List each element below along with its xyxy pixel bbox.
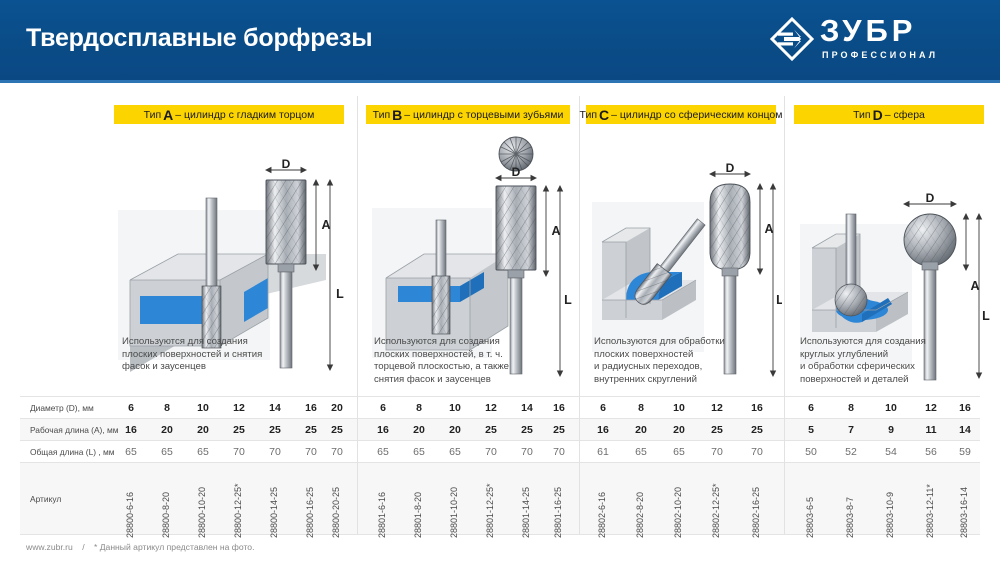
footer-website[interactable]: www.zubr.ru (26, 542, 73, 552)
banner-suffix-a: – цилиндр с гладким торцом (175, 109, 314, 121)
table-column-divider (784, 396, 785, 534)
cell-total-length: 50 (794, 446, 828, 458)
cell-total-length: 54 (874, 446, 908, 458)
cell-article: 28802-16-25 (751, 487, 761, 538)
cell-article: 28803-16-14 (959, 487, 969, 538)
table-column-divider (357, 396, 358, 534)
cell-article: 28801-6-16 (377, 492, 387, 538)
cell-working-length: 5 (794, 424, 828, 436)
row-label-total-length: Общая длина (L) , мм (30, 447, 115, 457)
page-footer: www.zubr.ru / * Данный артикул представл… (26, 542, 254, 552)
cell-article: 28800-14-25 (269, 487, 279, 538)
cell-working-length: 25 (474, 424, 508, 436)
table-rule (20, 418, 980, 419)
dim-label-a-a: A (321, 218, 330, 232)
cell-working-length: 20 (624, 424, 658, 436)
cell-working-length: 9 (874, 424, 908, 436)
banner-prefix-a: Тип (144, 109, 162, 121)
cell-diameter: 8 (624, 402, 658, 414)
cell-article: 28800-10-20 (197, 487, 207, 538)
dimension-a-d (964, 214, 969, 270)
cell-working-length: 25 (222, 424, 256, 436)
cell-diameter: 20 (320, 402, 354, 414)
cell-article: 28801-10-20 (449, 487, 459, 538)
cell-total-length: 65 (366, 446, 400, 458)
brand-logo: ЗУБР ПРОФЕССИОНАЛ (770, 13, 982, 67)
cell-total-length: 52 (834, 446, 868, 458)
banner-prefix-c: Тип (580, 109, 598, 121)
cell-article: 28801-8-20 (413, 492, 423, 538)
banner-letter-d: D (873, 108, 883, 122)
cell-diameter: 14 (258, 402, 292, 414)
cell-diameter: 8 (402, 402, 436, 414)
cell-total-length: 65 (186, 446, 220, 458)
cell-total-length: 70 (740, 446, 774, 458)
cell-diameter: 16 (740, 402, 774, 414)
row-label-article: Артикул (30, 494, 61, 504)
cell-total-length: 70 (222, 446, 256, 458)
cell-total-length: 70 (258, 446, 292, 458)
cell-working-length: 16 (114, 424, 148, 436)
dim-label-l-a: L (336, 287, 344, 301)
type-banner-b: Тип B – цилиндр с торцевыми зубьями (366, 105, 570, 124)
cell-total-length: 70 (542, 446, 576, 458)
cell-article: 28802-6-16 (597, 492, 607, 538)
cell-diameter: 6 (366, 402, 400, 414)
banner-prefix-b: Тип (373, 109, 391, 121)
banner-suffix-d: – сфера (885, 109, 925, 121)
dim-label-d-b: D (512, 165, 521, 179)
cell-article: 28801-14-25 (521, 487, 531, 538)
dim-label-l-b: L (564, 293, 572, 307)
type-banner-a: Тип A – цилиндр с гладким торцом (114, 105, 344, 124)
header-rule (0, 80, 1000, 83)
cell-article: 28802-10-20 (673, 487, 683, 538)
dim-label-d-a: D (282, 158, 291, 171)
cell-article: 28802-12-25* (711, 483, 721, 538)
cell-diameter: 16 (948, 402, 982, 414)
cell-diameter: 10 (438, 402, 472, 414)
cell-article: 28801-12-25* (485, 483, 495, 538)
cell-working-length: 14 (948, 424, 982, 436)
description-type-a: Используются для созданияплоских поверхн… (122, 336, 337, 374)
cell-total-length: 65 (662, 446, 696, 458)
cell-total-length: 59 (948, 446, 982, 458)
footer-note: * Данный артикул представлен на фото. (94, 542, 255, 552)
cell-diameter: 14 (510, 402, 544, 414)
cell-article: 28803-6-5 (805, 497, 815, 538)
cell-article: 28803-8-7 (845, 497, 855, 538)
cell-total-length: 70 (700, 446, 734, 458)
cell-working-length: 20 (150, 424, 184, 436)
banner-letter-a: A (163, 108, 173, 122)
table-rule (20, 462, 980, 463)
cell-diameter: 16 (542, 402, 576, 414)
cell-article: 28803-12-11* (925, 484, 935, 538)
dim-label-a-d: A (970, 279, 979, 293)
cell-total-length: 70 (320, 446, 354, 458)
cell-diameter: 6 (794, 402, 828, 414)
banner-prefix-d: Тип (853, 109, 871, 121)
banner-letter-c: C (599, 108, 609, 122)
row-label-working-length: Рабочая длина (A), мм (30, 425, 119, 435)
cell-total-length: 65 (150, 446, 184, 458)
dim-label-d-c: D (726, 161, 735, 175)
cell-article: 28803-10-9 (885, 492, 895, 538)
cell-working-length: 25 (510, 424, 544, 436)
cell-article: 28800-20-25 (331, 487, 341, 538)
cell-diameter: 12 (700, 402, 734, 414)
cell-working-length: 25 (258, 424, 292, 436)
cell-total-length: 65 (624, 446, 658, 458)
cell-working-length: 16 (586, 424, 620, 436)
zubr-diamond-arrow-icon (770, 17, 814, 61)
description-type-d: Используются для созданиякруглых углубле… (800, 336, 990, 386)
logo-subtitle: ПРОФЕССИОНАЛ (822, 50, 938, 60)
cell-working-length: 20 (186, 424, 220, 436)
cell-diameter: 12 (474, 402, 508, 414)
description-type-c: Используются для обработкиплоских поверх… (594, 336, 779, 386)
cell-article: 28800-16-25 (305, 487, 315, 538)
cell-total-length: 65 (402, 446, 436, 458)
cell-working-length: 25 (740, 424, 774, 436)
cell-total-length: 65 (114, 446, 148, 458)
footer-separator: / (82, 542, 84, 552)
cell-diameter: 6 (114, 402, 148, 414)
table-rule (20, 396, 980, 397)
dim-label-d-d: D (926, 192, 935, 205)
cell-article: 28800-6-16 (125, 492, 135, 538)
type-banner-d: Тип D – сфера (794, 105, 984, 124)
cell-working-length: 25 (320, 424, 354, 436)
cell-diameter: 8 (834, 402, 868, 414)
page-title: Твердосплавные борфрезы (26, 24, 372, 53)
cell-total-length: 61 (586, 446, 620, 458)
table-column-divider (579, 396, 580, 534)
cell-total-length: 65 (438, 446, 472, 458)
cell-total-length: 70 (474, 446, 508, 458)
cell-working-length: 20 (402, 424, 436, 436)
cell-article: 28800-12-25* (233, 483, 243, 538)
cell-diameter: 12 (914, 402, 948, 414)
banner-suffix-b: – цилиндр с торцевыми зубьями (404, 109, 563, 121)
column-divider (357, 96, 358, 396)
cell-working-length: 7 (834, 424, 868, 436)
description-type-b: Используются для созданияплоских поверхн… (374, 336, 574, 386)
cell-article: 28801-16-25 (553, 487, 563, 538)
cell-article: 28802-8-20 (635, 492, 645, 538)
datasheet-page: Твердосплавные борфрезы ЗУБР ПРОФЕССИОНА… (0, 0, 1000, 563)
banner-letter-b: B (392, 108, 402, 122)
cell-working-length: 11 (914, 424, 948, 436)
dim-label-l-d: L (982, 309, 990, 323)
cell-diameter: 10 (874, 402, 908, 414)
cell-article: 28800-8-20 (161, 492, 171, 538)
cell-total-length: 56 (914, 446, 948, 458)
cell-working-length: 16 (366, 424, 400, 436)
cell-diameter: 12 (222, 402, 256, 414)
cell-working-length: 20 (438, 424, 472, 436)
cell-working-length: 20 (662, 424, 696, 436)
cell-diameter: 8 (150, 402, 184, 414)
table-rule (20, 440, 980, 441)
banner-suffix-c: – цилиндр со сферическим концом (611, 109, 782, 121)
cell-working-length: 25 (542, 424, 576, 436)
column-divider (784, 96, 785, 396)
dimension-a-c (758, 184, 763, 274)
row-label-diameter: Диаметр (D), мм (30, 403, 94, 413)
column-divider (579, 96, 580, 396)
dim-label-a-c: A (764, 222, 773, 236)
logo-wordmark: ЗУБР (820, 13, 916, 49)
cell-diameter: 6 (586, 402, 620, 414)
cell-working-length: 25 (700, 424, 734, 436)
type-banner-c: Тип C – цилиндр со сферическим концом (586, 105, 776, 124)
cell-diameter: 10 (662, 402, 696, 414)
dim-label-a-b: A (551, 224, 560, 238)
dim-label-l-c: L (776, 293, 782, 307)
cell-diameter: 10 (186, 402, 220, 414)
dimension-a-b (544, 186, 549, 276)
cell-total-length: 70 (510, 446, 544, 458)
